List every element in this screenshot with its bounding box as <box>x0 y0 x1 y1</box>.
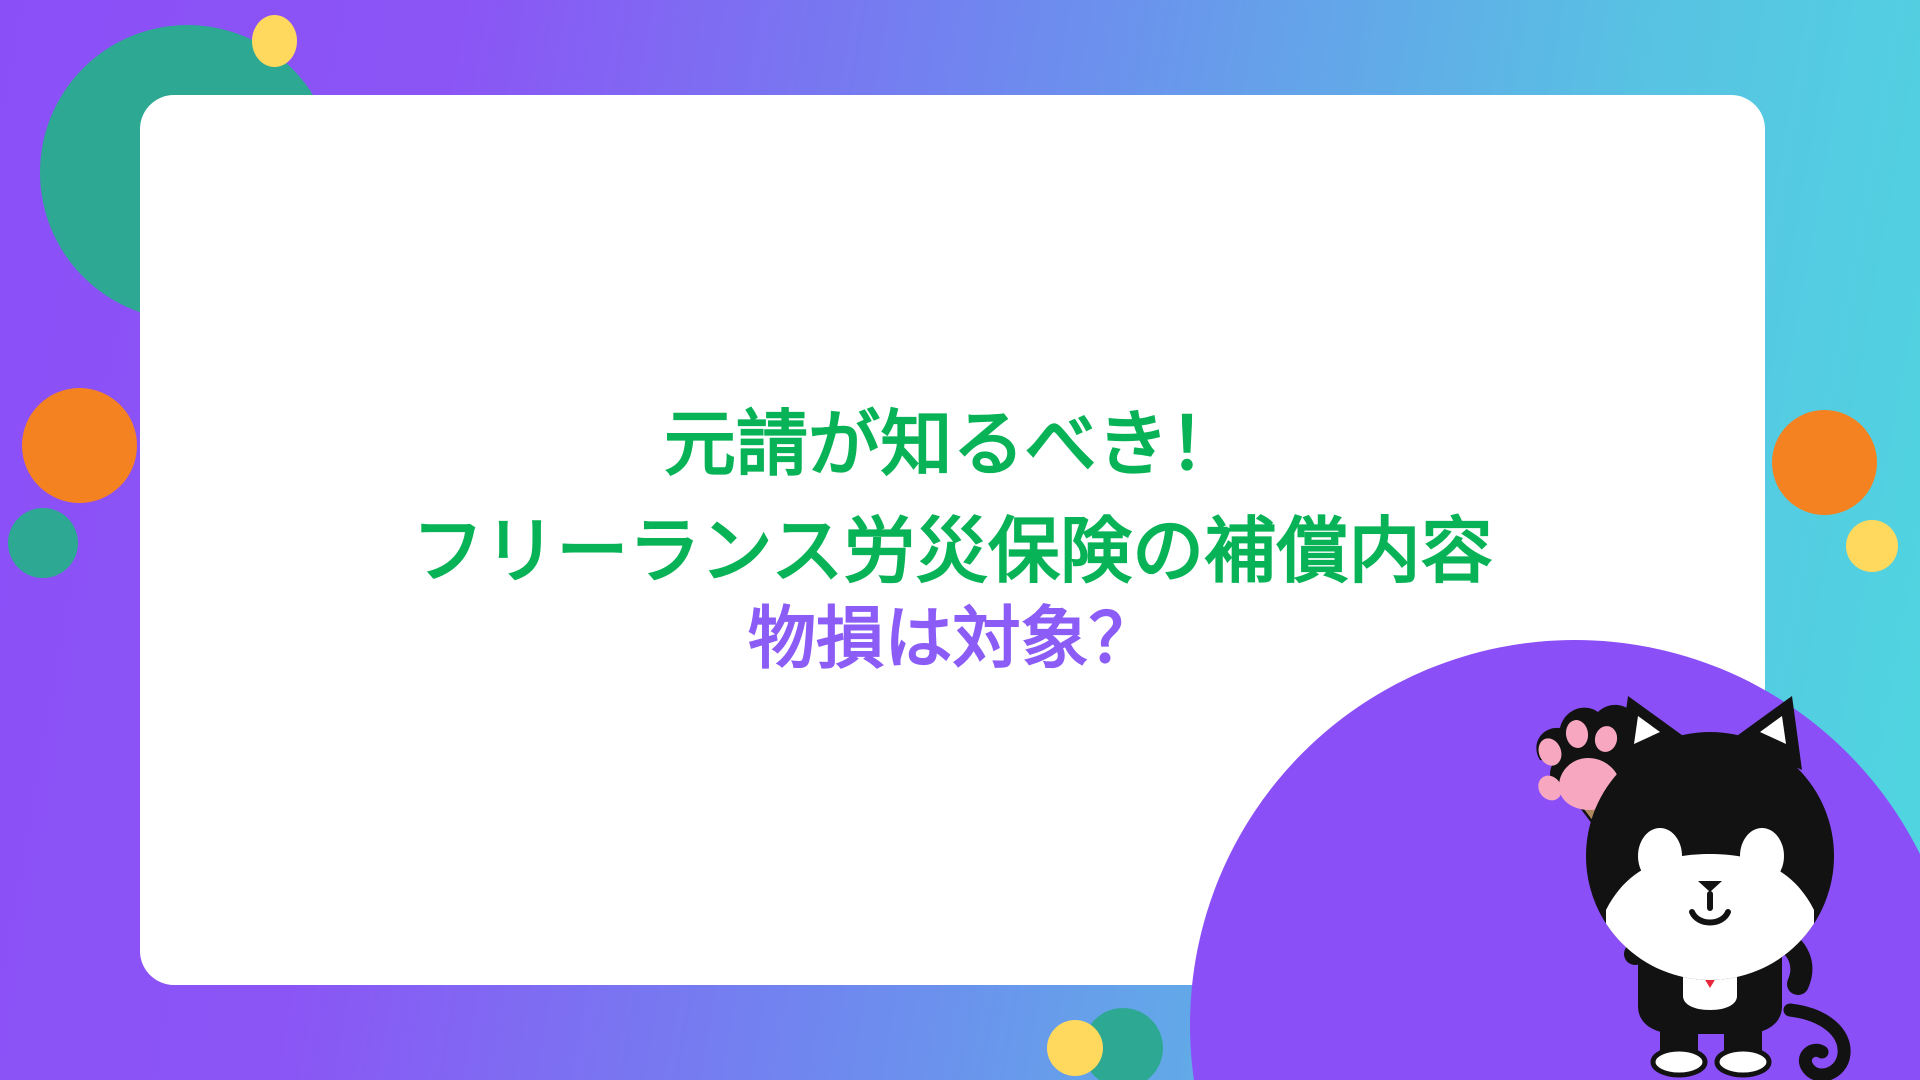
tuxedo-cat-mascot <box>1478 660 1898 1080</box>
yellow-circle-bottom <box>1047 1020 1103 1076</box>
teal-circle-left-small <box>8 508 78 578</box>
cat-eye-left <box>1638 828 1682 884</box>
poster-canvas: 元請が知るべき！ フリーランス労災保険の補償内容 物損は対象？ <box>0 0 1920 1080</box>
headline-line-2: フリーランス労災保険の補償内容 <box>140 507 1765 598</box>
page-title: 元請が知るべき！ フリーランス労災保険の補償内容 物損は対象？ <box>140 400 1765 683</box>
orange-circle-right <box>1772 410 1877 515</box>
yellow-circle-right <box>1846 520 1898 572</box>
headline-line-1: 元請が知るべき！ <box>140 400 1765 491</box>
yellow-circle-top-left <box>252 15 297 67</box>
cat-eye-right <box>1740 828 1784 884</box>
orange-circle-left <box>22 388 137 503</box>
